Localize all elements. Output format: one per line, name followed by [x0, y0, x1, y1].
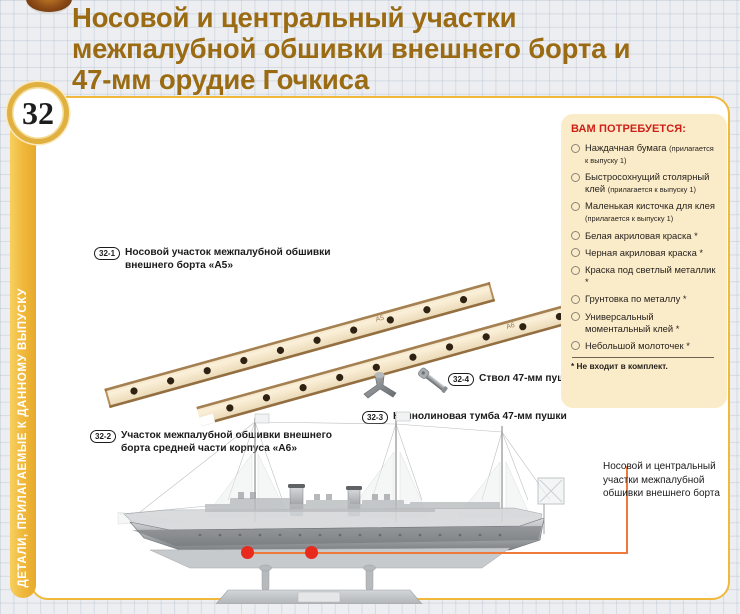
- checkbox-icon[interactable]: [571, 202, 580, 211]
- material-item[interactable]: Грунтовка по металлу *: [571, 293, 716, 305]
- ship-marker-dot: [305, 546, 318, 559]
- checkbox-icon[interactable]: [571, 144, 580, 153]
- material-item[interactable]: Маленькая кисточка для клея (прилагается…: [571, 200, 716, 224]
- checkbox-icon[interactable]: [571, 266, 580, 275]
- checkbox-icon[interactable]: [571, 312, 580, 321]
- materials-box: ВАМ ПОТРЕБУЕТСЯ: Наждачная бумага (прила…: [561, 114, 727, 408]
- material-label: Грунтовка по металлу *: [585, 293, 687, 305]
- material-label: Краска под светлый металлик *: [585, 264, 716, 288]
- ship-marker-dot: [241, 546, 254, 559]
- material-label: Черная акриловая краска *: [585, 247, 703, 259]
- checkbox-icon[interactable]: [571, 173, 580, 182]
- page-title: Носовой и центральный участки межпалубно…: [72, 2, 632, 95]
- part-name-32-1: Носовой участок межпалубной обшивки внеш…: [125, 246, 359, 272]
- side-tab-label: ДЕТАЛИ, ПРИЛАГАЕМЫЕ К ДАННОМУ ВЫПУСКУ: [17, 288, 29, 588]
- checkbox-icon[interactable]: [571, 341, 580, 350]
- material-item[interactable]: Черная акриловая краска *: [571, 247, 716, 259]
- side-tab: ДЕТАЛИ, ПРИЛАГАЕМЫЕ К ДАННОМУ ВЫПУСКУ: [10, 120, 36, 598]
- materials-title: ВАМ ПОТРЕБУЕТСЯ:: [571, 123, 716, 135]
- part-label-32-1: 32-1 Носовой участок межпалубной обшивки…: [94, 246, 359, 272]
- ship-caption: Носовой и центральный участки межпалубно…: [603, 460, 733, 501]
- material-label: Белая акриловая краска *: [585, 230, 698, 242]
- ship-model-icon: [110, 404, 580, 604]
- metal-pedestal-icon: [360, 370, 400, 404]
- material-label: Универсальный моментальный клей *: [585, 311, 716, 335]
- emblem-icon: [26, 0, 72, 14]
- material-label: Наждачная бумага (прилагается к выпуску …: [585, 142, 716, 166]
- material-item[interactable]: Наждачная бумага (прилагается к выпуску …: [571, 142, 716, 166]
- material-item[interactable]: Белая акриловая краска *: [571, 230, 716, 242]
- side-tab-label-wrap: ДЕТАЛИ, ПРИЛАГАЕМЫЕ К ДАННОМУ ВЫПУСКУ: [10, 120, 36, 598]
- checkbox-icon[interactable]: [571, 231, 580, 240]
- checkbox-icon[interactable]: [571, 248, 580, 257]
- part-number-32-4: 32-4: [448, 373, 474, 386]
- material-label: Небольшой молоточек *: [585, 340, 690, 352]
- page-header: Носовой и центральный участки межпалубно…: [0, 0, 740, 96]
- material-item[interactable]: Универсальный моментальный клей *: [571, 311, 716, 335]
- material-label: Маленькая кисточка для клея (прилагается…: [585, 200, 716, 224]
- page-number-badge: 32: [7, 82, 69, 144]
- ship-leader-line: [243, 552, 628, 554]
- materials-divider: [572, 357, 714, 358]
- page-number-value: 32: [22, 97, 54, 129]
- material-item[interactable]: Небольшой молоточек *: [571, 340, 716, 352]
- material-item[interactable]: Быстросохнущий столярный клей (прилагает…: [571, 171, 716, 195]
- materials-footnote: * Не входит в комплект.: [571, 361, 716, 371]
- checkbox-icon[interactable]: [571, 295, 580, 304]
- material-label: Быстросохнущий столярный клей (прилагает…: [585, 171, 716, 195]
- material-item[interactable]: Краска под светлый металлик *: [571, 264, 716, 288]
- part-number-32-1: 32-1: [94, 247, 120, 260]
